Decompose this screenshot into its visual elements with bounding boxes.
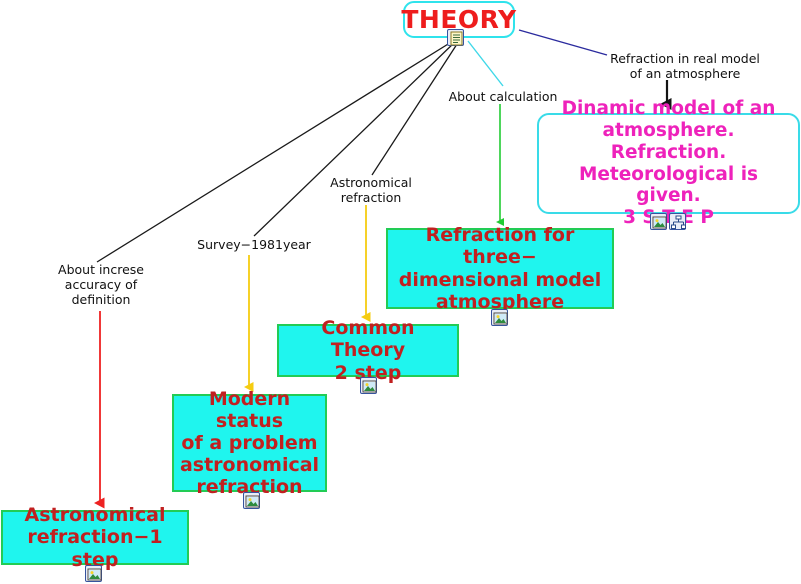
node-dinamic-model[interactable]: Dinamic model of an atmosphere. Refracti… bbox=[537, 113, 800, 214]
picture-icon[interactable] bbox=[243, 492, 260, 509]
edge-to-survey bbox=[254, 41, 456, 236]
picture-icon[interactable] bbox=[85, 565, 102, 582]
picture-icon[interactable] bbox=[360, 377, 377, 394]
document-icon[interactable] bbox=[447, 29, 464, 46]
edge-to-refraction-real-model bbox=[519, 30, 607, 55]
edge-to-about-calculation bbox=[468, 41, 503, 86]
node-modern-status[interactable]: Modern status of a problem astronomical … bbox=[172, 394, 327, 492]
node-refraction-three-dimensional[interactable]: Refraction for three− dimensional model … bbox=[386, 228, 614, 309]
mindmap-canvas: THEORY Refraction in real model of an at… bbox=[0, 0, 801, 584]
edge-label-survey: Survey−1981year bbox=[190, 237, 318, 252]
node-astronomical-refraction-1-step-icons bbox=[85, 565, 102, 582]
hierarchy-icon[interactable] bbox=[669, 213, 686, 230]
edge-to-astronomical-refraction bbox=[372, 41, 459, 175]
node-common-theory-icons bbox=[360, 377, 377, 394]
edge-label-about-increse: About increse accuracy of definition bbox=[40, 262, 162, 307]
node-refraction-three-dimensional-label: Refraction for three− dimensional model … bbox=[388, 224, 612, 312]
node-common-theory[interactable]: Common Theory 2 step bbox=[277, 324, 459, 377]
picture-icon[interactable] bbox=[491, 309, 508, 326]
edge-label-astronomical-refraction: Astronomical refraction bbox=[312, 175, 430, 205]
node-refraction-three-dimensional-icons bbox=[491, 309, 508, 326]
node-astronomical-refraction-1-step[interactable]: Astronomical refraction−1 step bbox=[1, 510, 189, 565]
node-modern-status-icons bbox=[243, 492, 260, 509]
node-dinamic-model-icons bbox=[650, 213, 686, 230]
node-modern-status-label: Modern status of a problem astronomical … bbox=[174, 388, 325, 498]
node-dinamic-model-label: Dinamic model of an atmosphere. Refracti… bbox=[539, 98, 798, 229]
root-icon-row bbox=[447, 29, 464, 46]
node-astronomical-refraction-1-step-label: Astronomical refraction−1 step bbox=[3, 504, 187, 570]
node-common-theory-label: Common Theory 2 step bbox=[279, 317, 457, 383]
picture-icon[interactable] bbox=[650, 213, 667, 230]
edge-label-refraction-real-model: Refraction in real model of an atmospher… bbox=[610, 51, 760, 81]
